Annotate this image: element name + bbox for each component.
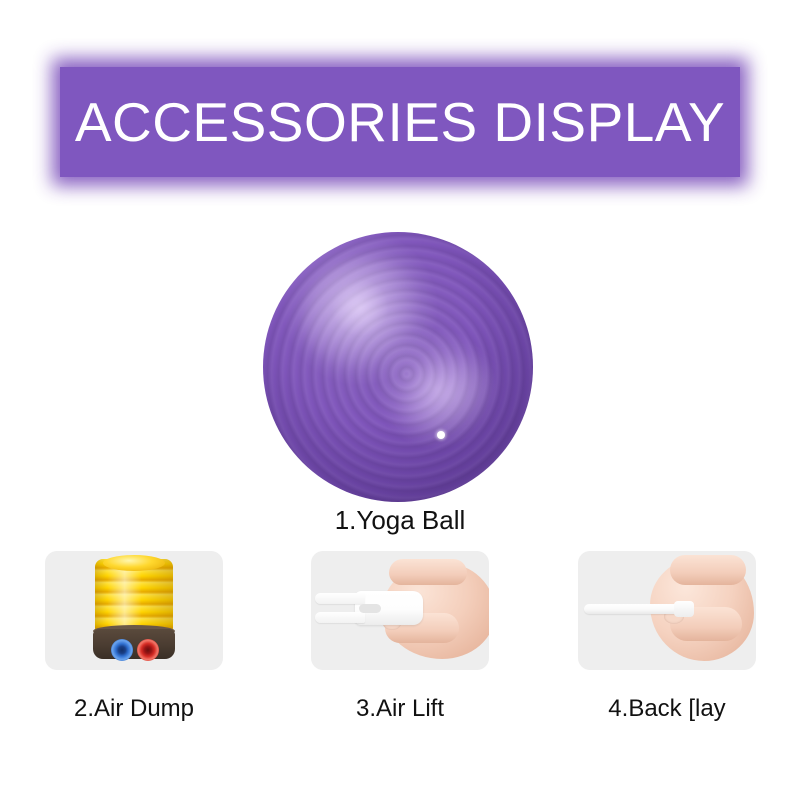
accessory-item-air-lift[interactable]: 3.Air Lift xyxy=(311,551,489,723)
yoga-ball-shading xyxy=(263,232,533,502)
accessory-caption: 3.Air Lift xyxy=(311,695,489,723)
accessory-thumbnail-card[interactable] xyxy=(311,551,489,670)
hand-finger-top xyxy=(670,555,746,585)
accessory-thumbnail-row: 2.Air Dump 3.Air Lift xyxy=(0,551,800,741)
accessory-item-air-dump[interactable]: 2.Air Dump xyxy=(45,551,223,723)
pump-top-cap xyxy=(103,555,165,571)
accessory-thumbnail-card[interactable] xyxy=(578,551,756,670)
foot-air-pump-icon xyxy=(91,559,177,665)
back-lay-straw-tool xyxy=(584,604,688,614)
fork-tool-slot xyxy=(359,604,381,613)
yoga-ball-valve-icon xyxy=(437,431,445,439)
pump-nozzle-red-icon xyxy=(137,639,159,661)
yoga-ball-image xyxy=(263,232,533,502)
accessory-caption: 2.Air Dump xyxy=(45,695,223,723)
banner-title: ACCESSORIES DISPLAY xyxy=(52,58,748,186)
yoga-ball-caption: 1.Yoga Ball xyxy=(0,505,800,536)
accessory-thumbnail-card[interactable] xyxy=(45,551,223,670)
pump-nozzle-blue-icon xyxy=(111,639,133,661)
banner: ACCESSORIES DISPLAY xyxy=(52,58,748,186)
fork-tool-tine-bottom xyxy=(315,612,365,623)
accessory-caption: 4.Back [lay xyxy=(578,695,756,723)
pump-base xyxy=(93,629,175,659)
accessories-display-page: ACCESSORIES DISPLAY 1.Yoga Ball xyxy=(0,0,800,800)
hand-holding-straw-icon xyxy=(578,551,756,670)
yoga-ball-sphere xyxy=(263,232,533,502)
hand-finger-top xyxy=(389,559,467,585)
air-lift-fork-tool xyxy=(315,591,423,625)
hand-holding-fork-tool-icon xyxy=(311,551,489,670)
fork-tool-tine-top xyxy=(315,593,365,604)
back-lay-straw-tip xyxy=(674,601,694,617)
accessory-item-back-lay[interactable]: 4.Back [lay xyxy=(578,551,756,723)
